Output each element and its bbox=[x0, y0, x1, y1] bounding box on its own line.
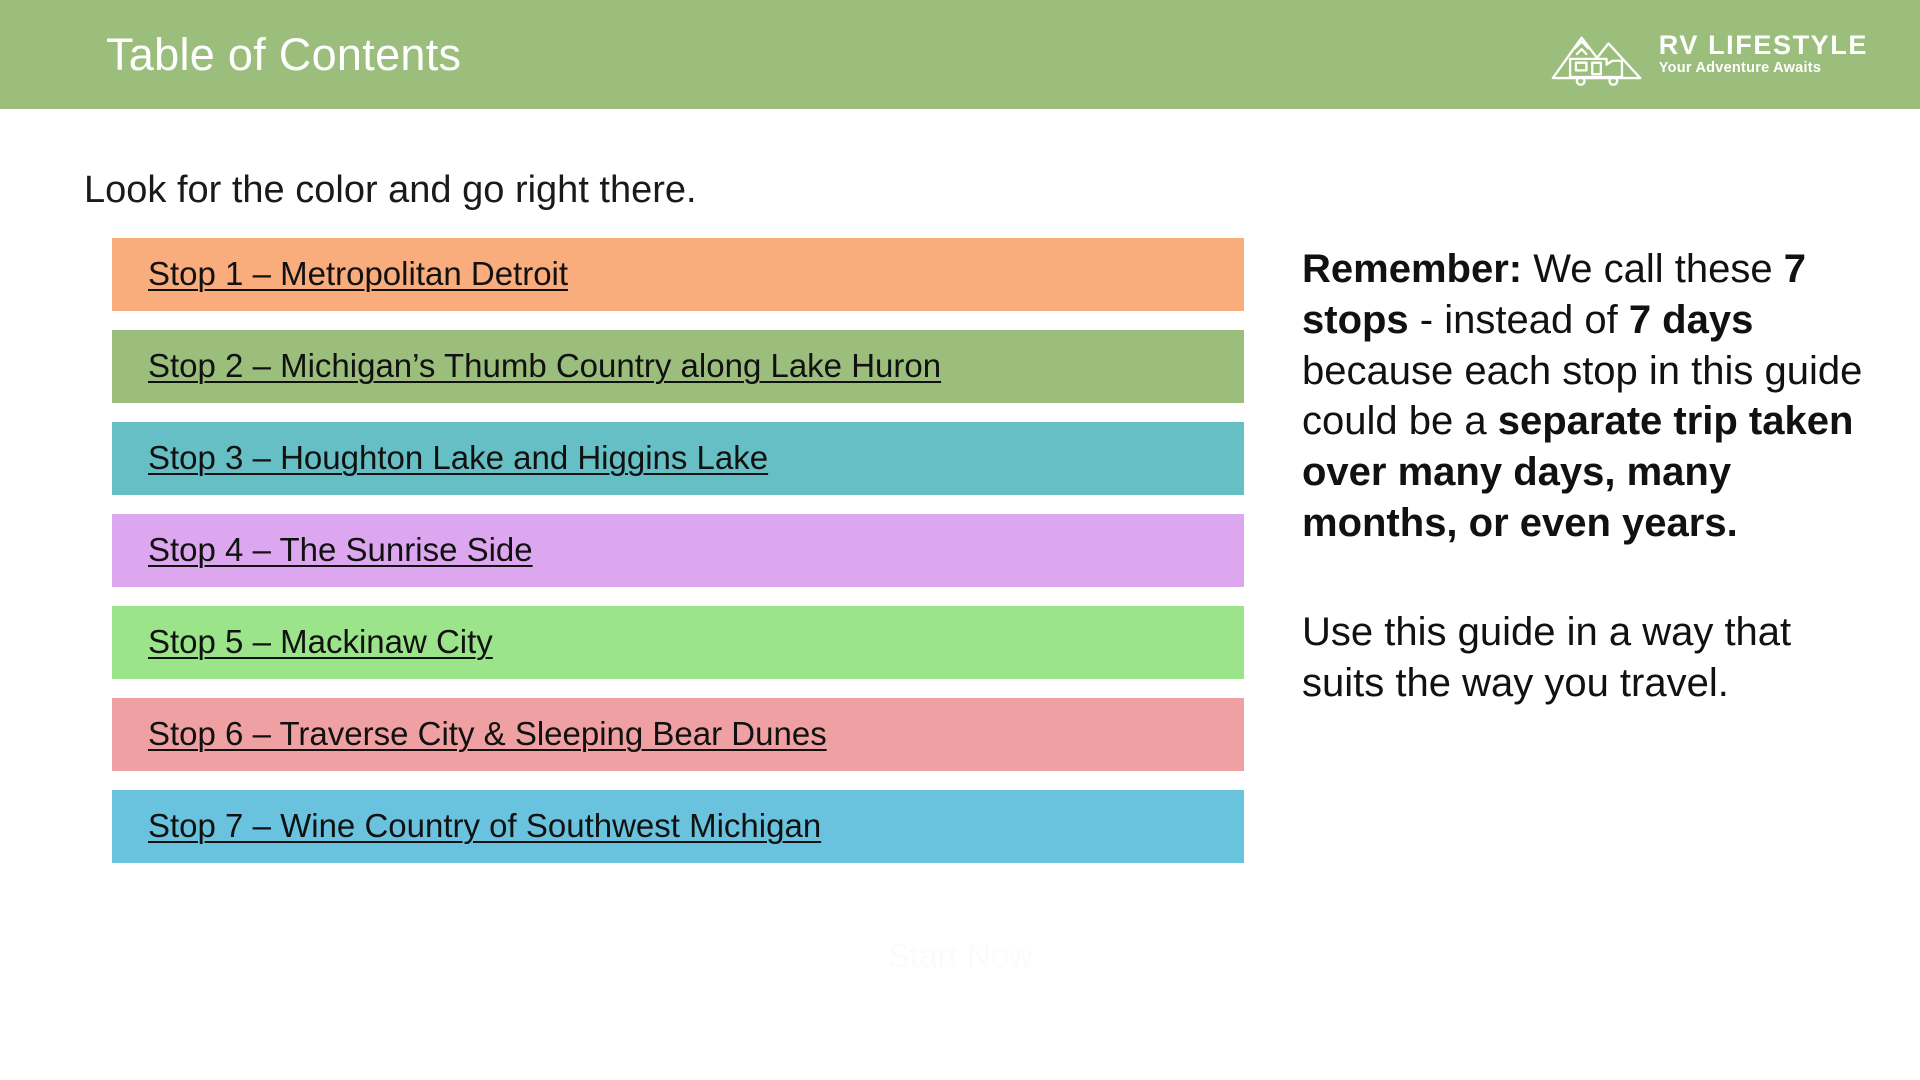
note-text-2: - instead of bbox=[1409, 298, 1629, 342]
stop-link-5[interactable]: Stop 5 – Mackinaw City bbox=[148, 624, 493, 660]
brand-logo: RV LIFESTYLE Your Adventure Awaits bbox=[1549, 22, 1868, 88]
logo-wordmark: RV LIFESTYLE Your Adventure Awaits bbox=[1659, 31, 1868, 78]
rv-mountain-logo-icon bbox=[1549, 22, 1645, 88]
stop-link-1[interactable]: Stop 1 – Metropolitan Detroit bbox=[148, 256, 568, 292]
stop-bar-1[interactable]: Stop 1 – Metropolitan Detroit bbox=[112, 238, 1244, 311]
stop-link-6[interactable]: Stop 6 – Traverse City & Sleeping Bear D… bbox=[148, 716, 827, 752]
stop-link-2[interactable]: Stop 2 – Michigan’s Thumb Country along … bbox=[148, 348, 941, 384]
stop-link-4[interactable]: Stop 4 – The Sunrise Side bbox=[148, 532, 533, 568]
contents-column: Look for the color and go right there. S… bbox=[84, 168, 1244, 882]
page-title: Table of Contents bbox=[106, 32, 461, 77]
note-bold-7-days: 7 days bbox=[1629, 298, 1754, 342]
stop-bar-6[interactable]: Stop 6 – Traverse City & Sleeping Bear D… bbox=[112, 698, 1244, 771]
header-band: Table of Contents bbox=[0, 0, 1920, 109]
stop-bar-7[interactable]: Stop 7 – Wine Country of Southwest Michi… bbox=[112, 790, 1244, 863]
slide-root: Table of Contents bbox=[0, 0, 1920, 1080]
stop-bar-5[interactable]: Stop 5 – Mackinaw City bbox=[112, 606, 1244, 679]
stop-bar-4[interactable]: Stop 4 – The Sunrise Side bbox=[112, 514, 1244, 587]
remember-label: Remember: bbox=[1302, 247, 1522, 291]
note-text-1: We call these bbox=[1522, 247, 1784, 291]
stop-list: Stop 1 – Metropolitan DetroitStop 2 – Mi… bbox=[112, 238, 1244, 863]
stop-bar-3[interactable]: Stop 3 – Houghton Lake and Higgins Lake bbox=[112, 422, 1244, 495]
stop-link-7[interactable]: Stop 7 – Wine Country of Southwest Michi… bbox=[148, 808, 821, 844]
logo-tagline: Your Adventure Awaits bbox=[1659, 59, 1821, 78]
remember-note: Remember: We call these 7 stops - instea… bbox=[1302, 244, 1882, 549]
stop-link-3[interactable]: Stop 3 – Houghton Lake and Higgins Lake bbox=[148, 440, 768, 476]
lead-instruction: Look for the color and go right there. bbox=[84, 168, 1244, 213]
logo-name: RV LIFESTYLE bbox=[1659, 31, 1868, 59]
notes-column: Remember: We call these 7 stops - instea… bbox=[1302, 244, 1882, 708]
closing-note: Use this guide in a way that suits the w… bbox=[1302, 607, 1882, 709]
start-now-label[interactable]: Start Now bbox=[888, 938, 1033, 974]
stop-bar-2[interactable]: Stop 2 – Michigan’s Thumb Country along … bbox=[112, 330, 1244, 403]
